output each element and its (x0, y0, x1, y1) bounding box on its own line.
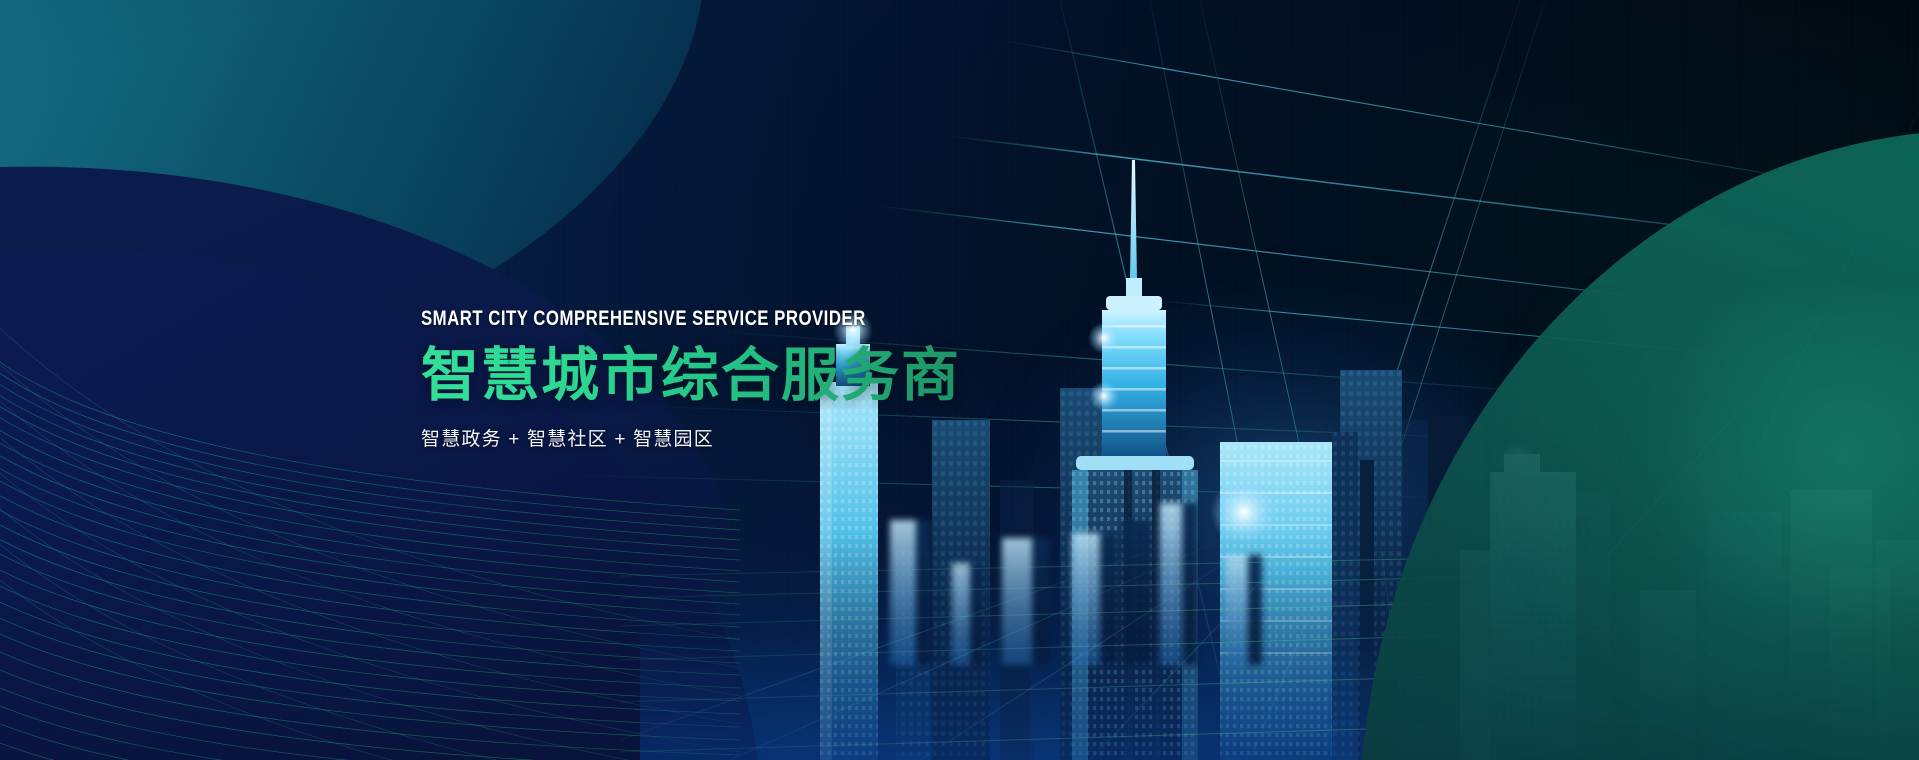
green-glow-decoration (1429, 300, 1919, 760)
page-title: 智慧城市综合服务商 (421, 345, 1141, 408)
headline-block: SMART CITY COMPREHENSIVE SERVICE PROVIDE… (421, 308, 1141, 451)
smart-city-banner: SMART CITY COMPREHENSIVE SERVICE PROVIDE… (0, 0, 1919, 760)
subtitle-services: 智慧政务 + 智慧社区 + 智慧园区 (421, 424, 1141, 451)
eyebrow-tagline: SMART CITY COMPREHENSIVE SERVICE PROVIDE… (421, 308, 997, 329)
